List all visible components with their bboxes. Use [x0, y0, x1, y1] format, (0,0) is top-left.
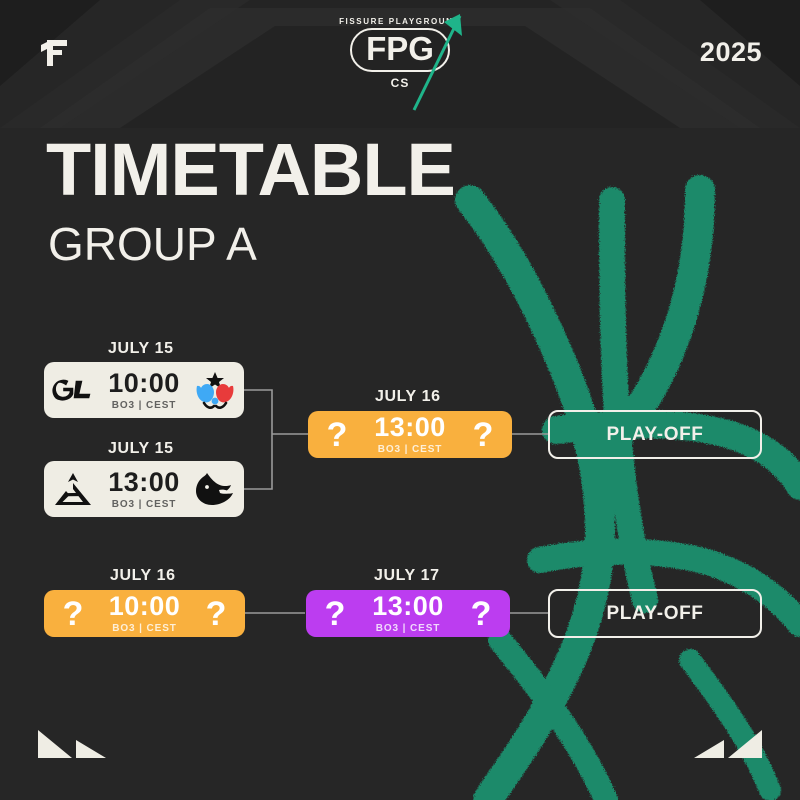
team-slot-left: ? — [308, 411, 366, 458]
match-meta: BO3 | CEST — [102, 500, 186, 510]
team-slot-right — [186, 362, 244, 418]
match-time: 13:00 — [102, 469, 186, 496]
match-info: 10:00 BO3 | CEST — [102, 593, 187, 634]
team-slot-left — [44, 362, 102, 418]
team-slot-left — [44, 461, 102, 517]
match-meta: BO3 | CEST — [102, 401, 186, 411]
match-info: 13:00 BO3 | CEST — [366, 414, 454, 455]
match-time: 10:00 — [102, 593, 187, 620]
question-mark-icon: ? — [325, 597, 346, 631]
match-date: JULY 15 — [108, 440, 174, 458]
team-slot-right — [186, 461, 244, 517]
match-info: 10:00 BO3 | CEST — [102, 370, 186, 411]
gl-wordmark-icon — [52, 377, 94, 403]
triangle-monogram-icon — [53, 471, 93, 507]
crown-figures-icon — [193, 370, 237, 410]
playoff-box-upper[interactable]: PLAY-OFF — [548, 410, 762, 459]
match-card-5[interactable]: ? 13:00 BO3 | CEST ? — [306, 590, 510, 637]
bracket: JULY 15 10:00 BO3 | CEST — [0, 0, 800, 800]
match-meta: BO3 | CEST — [102, 624, 187, 634]
match-card-4[interactable]: ? 10:00 BO3 | CEST ? — [44, 590, 245, 637]
match-info: 13:00 BO3 | CEST — [102, 469, 186, 510]
match-info: 13:00 BO3 | CEST — [364, 593, 452, 634]
match-date: JULY 17 — [374, 567, 440, 585]
match-card-2[interactable]: 13:00 BO3 | CEST — [44, 461, 244, 517]
playoff-label: PLAY-OFF — [607, 603, 704, 625]
match-date: JULY 15 — [108, 340, 174, 358]
playoff-box-lower[interactable]: PLAY-OFF — [548, 589, 762, 638]
ascending-triangles-icon — [694, 726, 762, 760]
descending-triangles-icon — [38, 726, 106, 760]
question-mark-icon: ? — [473, 418, 494, 452]
match-meta: BO3 | CEST — [366, 445, 454, 455]
panther-head-icon — [193, 470, 237, 508]
team-slot-right: ? — [187, 590, 245, 637]
team-slot-right: ? — [454, 411, 512, 458]
match-time: 13:00 — [366, 414, 454, 441]
match-time: 13:00 — [364, 593, 452, 620]
question-mark-icon: ? — [206, 597, 227, 631]
team-slot-left: ? — [306, 590, 364, 637]
match-meta: BO3 | CEST — [364, 624, 452, 634]
team-slot-right: ? — [452, 590, 510, 637]
team-slot-left: ? — [44, 590, 102, 637]
playoff-label: PLAY-OFF — [607, 424, 704, 446]
question-mark-icon: ? — [471, 597, 492, 631]
match-date: JULY 16 — [375, 388, 441, 406]
timetable-poster: FISSURE PLAYGROUND FPG CS 2025 TIMETABLE… — [0, 0, 800, 800]
match-date: JULY 16 — [110, 567, 176, 585]
match-card-3[interactable]: ? 13:00 BO3 | CEST ? — [308, 411, 512, 458]
question-mark-icon: ? — [63, 597, 84, 631]
match-time: 10:00 — [102, 370, 186, 397]
match-card-1[interactable]: 10:00 BO3 | CEST — [44, 362, 244, 418]
question-mark-icon: ? — [327, 418, 348, 452]
